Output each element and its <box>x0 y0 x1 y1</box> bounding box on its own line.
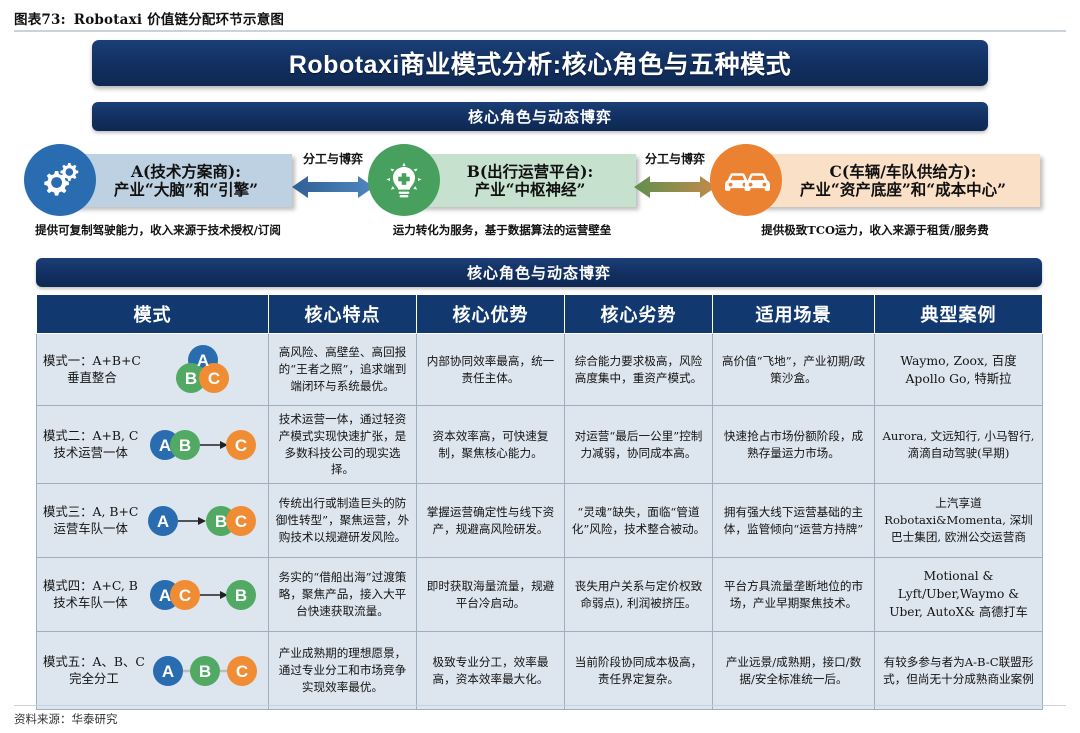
col-header-case: 典型案例 <box>875 295 1043 334</box>
table-row: 模式二：A+B, C 技术运营一体 A B C <box>37 406 1043 484</box>
case-cell-2: Aurora, 文远知行, 小马智行, 滴滴自动驾驶(早期) <box>875 406 1043 484</box>
scenario-cell-3: 拥有强大线下运营基础的主体，监管倾向“运营方持牌” <box>713 484 875 558</box>
svg-text:C: C <box>236 662 248 681</box>
modes-table: 模式 核心特点 核心优势 核心劣势 适用场景 典型案例 模式一：A+B+C 垂直… <box>36 294 1043 710</box>
main-title-text: Robotaxi商业模式分析:核心角色与五种模式 <box>289 45 791 81</box>
arrow-a-b-label: 分工与博弈 <box>288 150 378 167</box>
table-header-row: 模式 核心特点 核心优势 核心劣势 适用场景 典型案例 <box>37 295 1043 334</box>
venn-diagram-ac-arrow-b: A C B <box>142 574 262 616</box>
svg-text:C: C <box>179 586 191 605</box>
svg-text:A: A <box>159 436 171 455</box>
venn-diagram-a-arrow-bc: A B C <box>142 500 262 542</box>
svg-text:B: B <box>179 436 191 455</box>
advantage-cell-2: 资本效率高，可快速复制，聚焦核心能力。 <box>417 406 565 484</box>
mode-1-line2: 垂直整合 <box>43 370 141 387</box>
footer-divider <box>14 705 1066 706</box>
disadvantage-cell-1: 综合能力要求极高，风险高度集中，重资产模式。 <box>565 334 713 406</box>
double-arrow-icon-2 <box>634 170 716 204</box>
gears-icon <box>37 157 83 203</box>
svg-text:A: A <box>159 586 171 605</box>
disadvantage-cell-3: “灵魂”缺失，面临“管道化”风险，技术整合被动。 <box>565 484 713 558</box>
svg-text:B: B <box>185 369 197 388</box>
mode-1-line1: 模式一：A+B+C <box>43 353 141 370</box>
scenario-cell-1: 高价值“飞地”，产业初期/政策沙盒。 <box>713 334 875 406</box>
venn-diagram-ab-arrow-c: A B C <box>142 424 262 466</box>
role-c-box: C(车辆/车队供给方): 产业“资产底座”和“成本中心” <box>746 154 1040 207</box>
disadvantage-cell-4: 丧失用户关系与定价权致命弱点), 利润被挤压。 <box>565 558 713 632</box>
svg-text:A: A <box>157 512 169 531</box>
svg-text:B: B <box>215 512 227 531</box>
role-b-line1: B(出行运营平台): <box>467 163 594 181</box>
scenario-cell-5: 产业远景/成熟期，接口/数据/安全标准统一后。 <box>713 632 875 710</box>
feature-cell-1: 高风险、高壁垒、高回报的“王者之照”，追求端到端闭环与系统最优。 <box>269 334 417 406</box>
svg-text:B: B <box>199 662 211 681</box>
section-banner-table-text: 核心角色与动态博弈 <box>467 262 611 283</box>
svg-text:C: C <box>208 369 220 388</box>
disadvantage-cell-5: 当前阶段协同成本极高，责任界定复杂。 <box>565 632 713 710</box>
svg-text:C: C <box>235 436 247 455</box>
svg-text:A: A <box>162 662 174 681</box>
caption-divider <box>14 30 1066 32</box>
col-header-advantage: 核心优势 <box>417 295 565 334</box>
table-row: 模式一：A+B+C 垂直整合 A B C <box>37 334 1043 406</box>
mode-3-line2: 运营车队一体 <box>43 521 138 538</box>
role-c-line2: 产业“资产底座”和“成本中心” <box>800 181 1006 199</box>
main-title-banner: Robotaxi商业模式分析:核心角色与五种模式 <box>92 40 988 86</box>
role-a-line1: A(技术方案商): <box>131 163 241 181</box>
role-a-circle <box>24 144 96 216</box>
mode-cell-5: 模式五：A、B、C 完全分工 A B C <box>37 632 269 710</box>
case-cell-3: 上汽享道Robotaxi&Momenta, 深圳巴士集团, 欧洲公交运营商 <box>875 484 1043 558</box>
section-banner-roles-text: 核心角色与动态博弈 <box>468 106 612 127</box>
arrow-b-c-label: 分工与博弈 <box>630 150 720 167</box>
mode-4-line2: 技术车队一体 <box>43 595 138 612</box>
table-row: 模式三：A, B+C 运营车队一体 A B C <box>37 484 1043 558</box>
scenario-cell-4: 平台方具流量垄断地位的市场，产业早期聚焦技术。 <box>713 558 875 632</box>
feature-cell-3: 传统出行或制造巨头的防御性转型”，聚焦运营，外购技术以规避研发风险。 <box>269 484 417 558</box>
role-c-line1: C(车辆/车队供给方): <box>830 163 977 181</box>
role-card-b: B(出行运营平台): 产业“中枢神经” <box>368 140 636 250</box>
advantage-cell-1: 内部协同效率最高，统一责任主体。 <box>417 334 565 406</box>
mode-2-line2: 技术运营一体 <box>43 445 138 462</box>
section-banner-roles: 核心角色与动态博弈 <box>92 102 988 131</box>
col-header-mode: 模式 <box>37 295 269 334</box>
mode-5-line2: 完全分工 <box>43 671 145 688</box>
double-arrow-icon <box>292 170 374 204</box>
mode-cell-1: 模式一：A+B+C 垂直整合 A B C <box>37 334 269 406</box>
mode-cell-3: 模式三：A, B+C 运营车队一体 A B C <box>37 484 269 558</box>
mode-3-line1: 模式三：A, B+C <box>43 504 138 521</box>
mode-4-line1: 模式四：A+C, B <box>43 578 138 595</box>
mode-2-line1: 模式二：A+B, C <box>43 428 138 445</box>
case-cell-5: 有较多参与者为A-B-C联盟形式，但尚无十分成熟商业案例 <box>875 632 1043 710</box>
figure-caption: 图表73:Robotaxi 价值链分配环节示意图 <box>14 8 1064 28</box>
col-header-scenario: 适用场景 <box>713 295 875 334</box>
arrow-a-b: 分工与博弈 <box>288 140 378 250</box>
figure-title: Robotaxi 价值链分配环节示意图 <box>74 12 284 28</box>
feature-cell-2: 技术运营一体，通过轻资产模式实现快速扩张，是多数科技公司的现实选择。 <box>269 406 417 484</box>
col-header-feature: 核心特点 <box>269 295 417 334</box>
feature-cell-5: 产业成熟期的理想愿景，通过专业分工和市场竞争实现效率最优。 <box>269 632 417 710</box>
arrow-b-c: 分工与博弈 <box>630 140 720 250</box>
advantage-cell-4: 即时获取海量流量，规避平台冷启动。 <box>417 558 565 632</box>
scenario-cell-2: 快速抢占市场份额阶段，成熟存量运力市场。 <box>713 406 875 484</box>
figure-number: 图表73: <box>14 12 66 28</box>
table-row: 模式五：A、B、C 完全分工 A B C <box>37 632 1043 710</box>
role-card-a: A(技术方案商): 产业“大脑”和“引擎” 提供可复制驾驶能力，收入来源于技术授… <box>24 140 292 250</box>
svg-text:A: A <box>197 351 209 370</box>
svg-text:B: B <box>235 586 247 605</box>
section-banner-table: 核心角色与动态博弈 <box>36 258 1042 287</box>
role-b-circle <box>368 144 440 216</box>
mode-5-line1: 模式五：A、B、C <box>43 654 145 671</box>
role-card-c: C(车辆/车队供给方): 产业“资产底座”和“成本中心” 提供极致TCO运力，收… <box>710 140 1040 250</box>
role-a-line2: 产业“大脑”和“引擎” <box>114 181 258 199</box>
source-note: 资料来源：华泰研究 <box>14 711 118 727</box>
table-row: 模式四：A+C, B 技术车队一体 A C B <box>37 558 1043 632</box>
case-cell-4: Motional & Lyft/Uber,Waymo & Uber, AutoX… <box>875 558 1043 632</box>
advantage-cell-3: 掌握运营确定性与线下资产，规避高风险研发。 <box>417 484 565 558</box>
role-c-caption: 提供极致TCO运力，收入来源于租赁/服务费 <box>710 222 1040 238</box>
feature-cell-4: 务实的“借船出海”过渡策略，聚焦产品，接入大平台快速获取流量。 <box>269 558 417 632</box>
role-b-caption: 运力转化为服务，基于数据算法的运营壁垒 <box>368 222 636 238</box>
col-header-disadvantage: 核心劣势 <box>565 295 713 334</box>
advantage-cell-5: 极致专业分工，效率最高，资本效率最大化。 <box>417 632 565 710</box>
cars-icon <box>721 158 771 202</box>
lightbulb-icon <box>380 156 428 204</box>
roles-band: A(技术方案商): 产业“大脑”和“引擎” 提供可复制驾驶能力，收入来源于技术授… <box>0 140 1080 250</box>
venn-diagram-a-b-c-chain: A B C <box>149 650 262 692</box>
svg-text:C: C <box>235 512 247 531</box>
venn-diagram-abc: A B C <box>145 340 262 400</box>
role-a-caption: 提供可复制驾驶能力，收入来源于技术授权/订阅 <box>24 222 292 238</box>
mode-cell-4: 模式四：A+C, B 技术车队一体 A C B <box>37 558 269 632</box>
disadvantage-cell-2: 对运营“最后一公里”控制力减弱，协同成本高。 <box>565 406 713 484</box>
role-b-line2: 产业“中枢神经” <box>475 181 586 199</box>
role-c-circle <box>710 144 782 216</box>
mode-cell-2: 模式二：A+B, C 技术运营一体 A B C <box>37 406 269 484</box>
case-cell-1: Waymo, Zoox, 百度Apollo Go, 特斯拉 <box>875 334 1043 406</box>
